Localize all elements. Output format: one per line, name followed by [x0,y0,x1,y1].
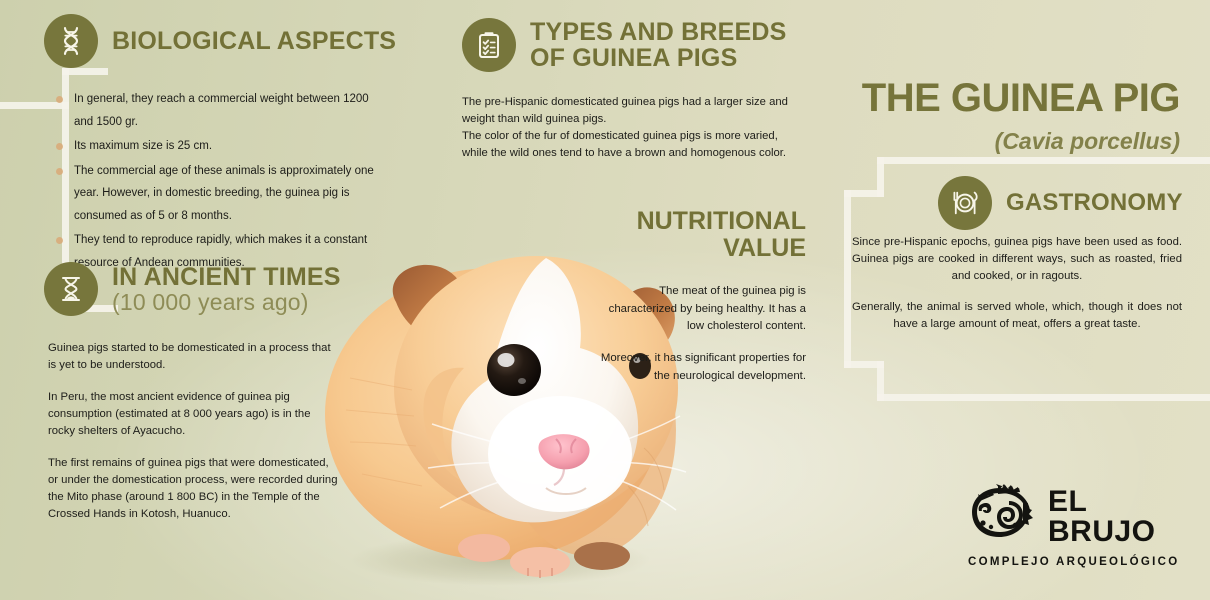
logo-subtitle: COMPLEJO ARQUEOLÓGICO [968,556,1179,568]
list-item: In general, they reach a commercial weig… [56,88,386,133]
types-and-breeds-title: TYPES AND BREEDS OF GUINEA PIGS [530,19,786,72]
paragraph: Generally, the animal is served whole, w… [852,299,1182,333]
nutritional-value-title: NUTRITIONAL VALUE [600,208,806,261]
bracket-segment [844,190,884,197]
dna-icon [44,14,98,68]
logo-line-1: EL [1048,487,1156,516]
main-title-block: THE GUINEA PIG (Cavia porcellus) [760,78,1180,155]
nutritional-value-body: The meat of the guinea pig is characteri… [600,283,806,385]
logo-line-2: BRUJO [1048,517,1156,546]
bracket-segment [844,190,851,368]
types-and-breeds-title-line1: TYPES AND BREEDS [530,18,786,46]
paragraph: Since pre-Hispanic epochs, guinea pigs h… [852,234,1182,285]
bracket-segment [877,361,884,401]
paragraph: The pre-Hispanic domesticated guinea pig… [462,94,804,128]
biological-aspects-title: BIOLOGICAL ASPECTS [112,28,396,54]
section-gastronomy: GASTRONOMY [938,176,1183,230]
types-and-breeds-body: The pre-Hispanic domesticated guinea pig… [462,94,804,163]
list-item: Its maximum size is 25 cm. [56,135,386,158]
bracket-segment [844,361,884,368]
infographic-canvas: BIOLOGICAL ASPECTS In general, they reac… [0,0,1210,600]
clipboard-checklist-icon [462,18,516,72]
types-and-breeds-title-line2: OF GUINEA PIGS [530,44,737,72]
nutritional-value-title-line2: VALUE [723,234,806,262]
scientific-name: (Cavia porcellus) [760,128,1180,155]
paragraph: The meat of the guinea pig is characteri… [600,283,806,336]
section-nutritional-value: NUTRITIONAL VALUE The meat of the guinea… [600,208,806,399]
bracket-segment [877,394,1210,401]
paragraph: The color of the fur of domesticated gui… [462,128,804,162]
nutritional-value-title-line1: NUTRITIONAL [637,207,806,235]
hourglass-icon [44,262,98,316]
cutlery-plate-icon [938,176,992,230]
logo: EL BRUJO [968,482,1184,551]
logo-wordmark: EL BRUJO [1048,487,1156,546]
types-and-breeds-header: TYPES AND BREEDS OF GUINEA PIGS [462,18,812,72]
bracket-segment [877,157,884,197]
gastronomy-title: GASTRONOMY [1006,190,1183,215]
page-title: THE GUINEA PIG [760,78,1180,118]
gastronomy-body: Since pre-Hispanic epochs, guinea pigs h… [852,234,1182,347]
biological-aspects-header: BIOLOGICAL ASPECTS [44,14,444,68]
paragraph: Moreover, it has significant properties … [600,350,806,385]
spiral-feline-glyph-icon [968,482,1036,551]
bracket-segment [877,157,1210,164]
gastronomy-header: GASTRONOMY [938,176,1183,230]
